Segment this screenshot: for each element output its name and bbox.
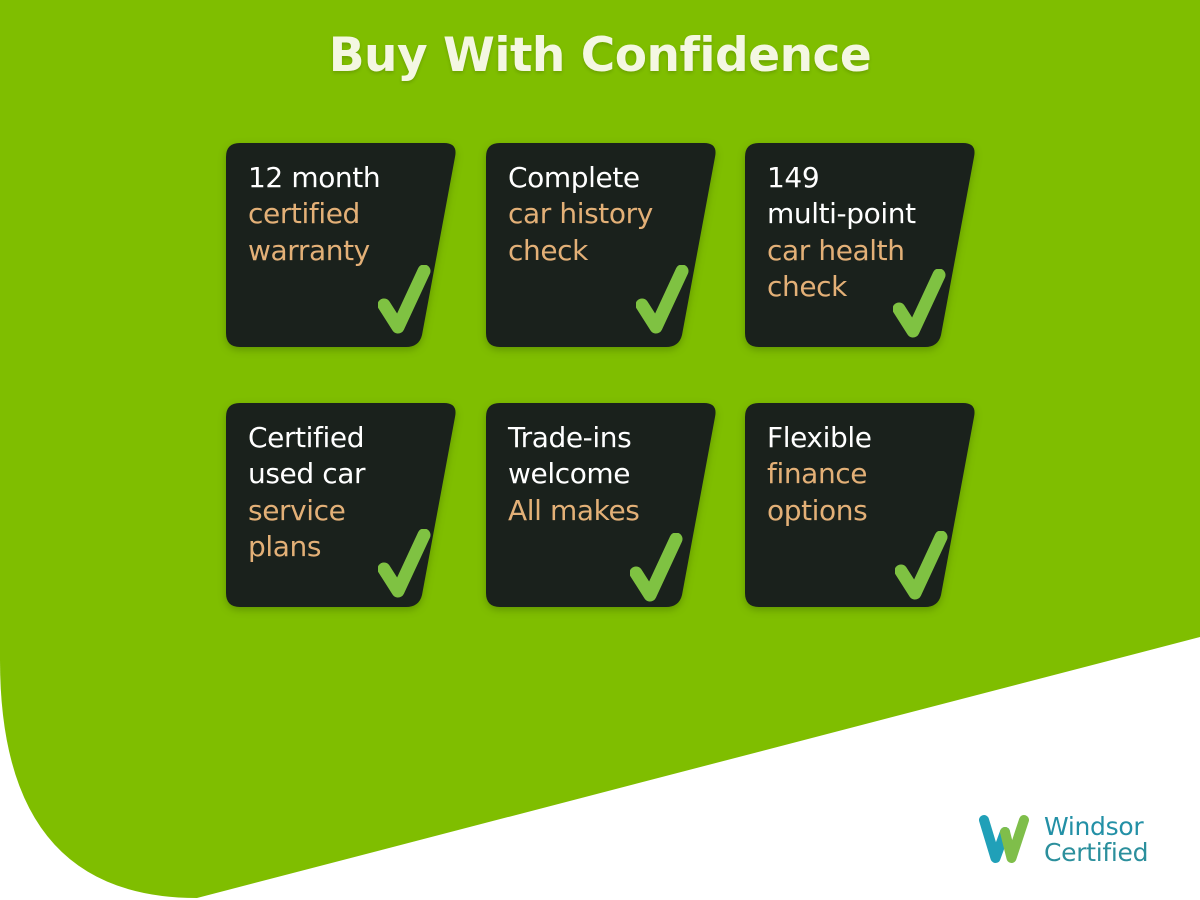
card-line: welcome: [508, 456, 693, 492]
feature-card[interactable]: Trade-ins welcome All makes: [486, 403, 718, 607]
logo-line-windsor: Windsor: [1044, 814, 1148, 840]
card-line: options: [767, 493, 952, 529]
card-text-block: Certified used car service plans: [248, 420, 433, 566]
windsor-certified-logo[interactable]: Windsor Certified: [978, 812, 1148, 868]
card-text-block: 149 multi-point car health check: [767, 160, 952, 306]
card-line: Complete: [508, 160, 693, 196]
card-line: car health: [767, 233, 952, 269]
card-line: used car: [248, 456, 433, 492]
logo-line-certified: Certified: [1044, 840, 1148, 866]
card-line: finance: [767, 456, 952, 492]
card-text-block: Complete car history check: [508, 160, 693, 269]
card-line: check: [767, 269, 952, 305]
card-line: multi-point: [767, 196, 952, 232]
feature-card-grid: 12 month certified warranty Complete car…: [0, 0, 1200, 900]
poster-canvas: Buy With Confidence 12 month certified w…: [0, 0, 1200, 900]
card-line: 12 month: [248, 160, 433, 196]
card-line: certified: [248, 196, 433, 232]
page-title: Buy With Confidence: [0, 28, 1200, 83]
card-text-block: Flexible finance options: [767, 420, 952, 529]
feature-card[interactable]: 149 multi-point car health check: [745, 143, 977, 347]
card-text-block: Trade-ins welcome All makes: [508, 420, 693, 529]
card-line: service: [248, 493, 433, 529]
logo-wordmark: Windsor Certified: [1044, 814, 1148, 866]
windsor-w-logo-icon: [978, 812, 1034, 868]
card-text-block: 12 month certified warranty: [248, 160, 433, 269]
card-line: Trade-ins: [508, 420, 693, 456]
card-line: Flexible: [767, 420, 952, 456]
feature-card[interactable]: Certified used car service plans: [226, 403, 458, 607]
card-line: plans: [248, 529, 433, 565]
card-line: warranty: [248, 233, 433, 269]
feature-card[interactable]: Flexible finance options: [745, 403, 977, 607]
feature-card[interactable]: Complete car history check: [486, 143, 718, 347]
card-line: check: [508, 233, 693, 269]
feature-card[interactable]: 12 month certified warranty: [226, 143, 458, 347]
card-line: car history: [508, 196, 693, 232]
card-line: 149: [767, 160, 952, 196]
card-line: All makes: [508, 493, 693, 529]
card-line: Certified: [248, 420, 433, 456]
